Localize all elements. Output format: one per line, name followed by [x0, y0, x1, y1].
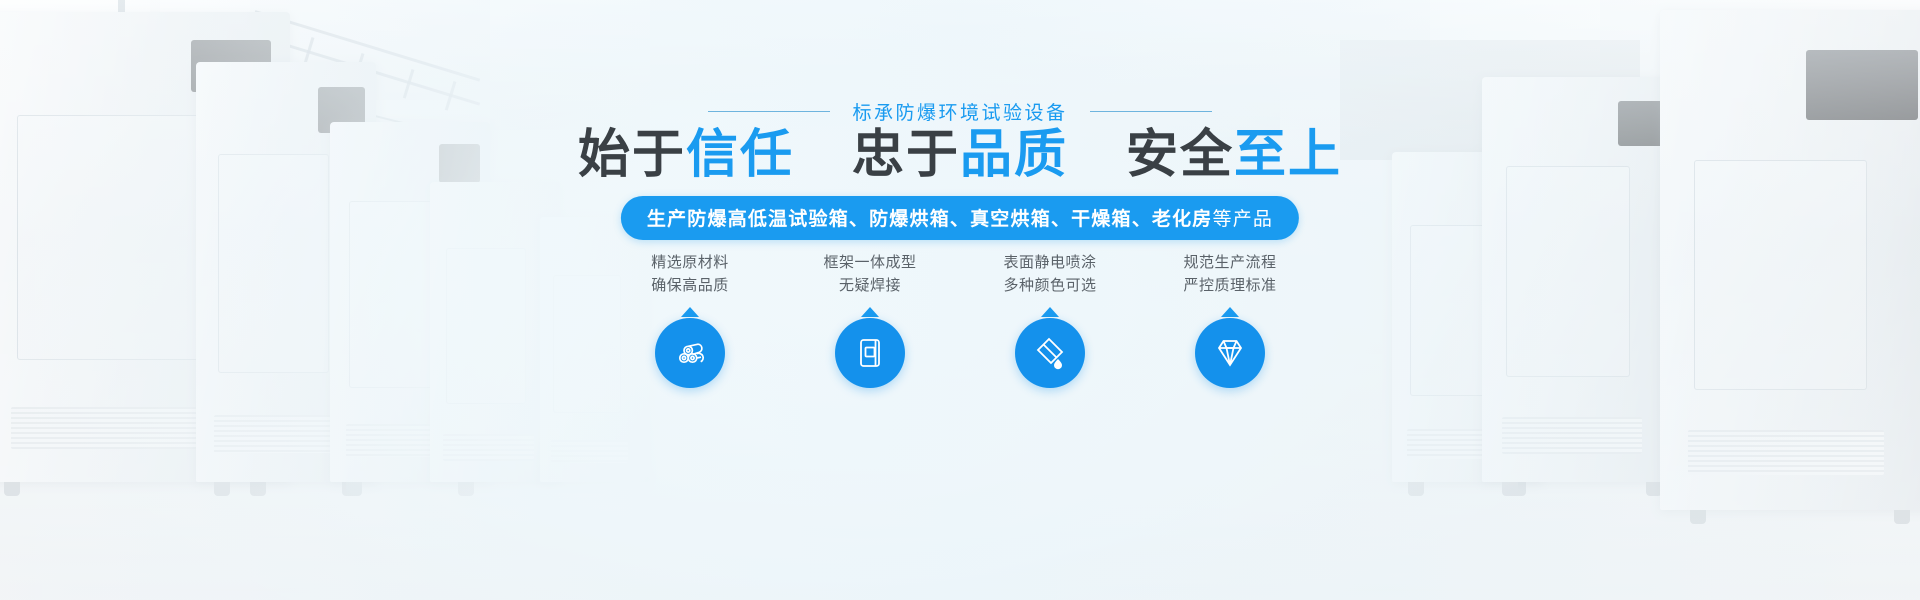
feature-4-line2: 严控质理标准 — [1183, 275, 1276, 298]
subtitle-pill: 生产防爆高低温试验箱、防爆烘箱、真空烘箱、干燥箱、老化房等产品 — [621, 196, 1299, 240]
feature-3-line1: 表面静电喷涂 — [1003, 252, 1096, 275]
headline-phrase-3: 安全至上 — [1126, 125, 1342, 186]
pointer-triangle — [1041, 307, 1059, 317]
headline-3-dark: 安全 — [1126, 126, 1234, 184]
frame-icon — [853, 336, 887, 370]
feature-item-coating[interactable]: 表面静电喷涂 多种颜色可选 — [984, 252, 1116, 388]
feature-4-circle[interactable] — [1195, 318, 1265, 388]
hero-banner: RGDJ-180T RGDJ-180T RGD-180 — [0, 0, 1920, 600]
pointer-triangle — [861, 307, 879, 317]
headline-phrase-2: 忠于品质 — [852, 125, 1068, 186]
headline-1-dark: 始于 — [578, 126, 686, 184]
feature-item-process[interactable]: 规范生产流程 严控质理标准 — [1164, 252, 1296, 388]
feature-1-line2: 确保高品质 — [651, 275, 729, 298]
headline-2-blue: 品质 — [960, 126, 1068, 184]
spray-paint-icon — [1032, 335, 1068, 371]
headline-2-dark: 忠于 — [852, 126, 960, 184]
tagline-row: 标承防爆环境试验设备 — [0, 98, 1920, 125]
subtitle-tail: 等产品 — [1213, 209, 1274, 230]
feature-2-line1: 框架一体成型 — [823, 252, 916, 275]
feature-2-line2: 无疑焊接 — [839, 275, 901, 298]
headline-phrase-1: 始于信任 — [578, 125, 794, 186]
headline-3-blue: 至上 — [1234, 126, 1342, 184]
rolls-icon — [671, 334, 709, 372]
pointer-triangle — [681, 307, 699, 317]
feature-3-line2: 多种颜色可选 — [1003, 275, 1096, 298]
banner-content: 标承防爆环境试验设备 始于信任 忠于品质 安全至上 生产防爆高低温试验箱、防爆烘… — [0, 0, 1920, 600]
feature-item-materials[interactable]: 精选原材料 确保高品质 — [624, 252, 756, 388]
tagline-rule-right — [1090, 111, 1212, 112]
feature-1-circle[interactable] — [655, 318, 725, 388]
headline: 始于信任 忠于品质 安全至上 — [0, 125, 1920, 186]
feature-item-frame[interactable]: 框架一体成型 无疑焊接 — [804, 252, 936, 388]
feature-list: 精选原材料 确保高品质 — [624, 252, 1296, 388]
feature-4-line1: 规范生产流程 — [1183, 252, 1276, 275]
tagline-text: 标承防爆环境试验设备 — [852, 98, 1067, 125]
headline-1-blue: 信任 — [686, 126, 794, 184]
diamond-icon — [1212, 335, 1248, 371]
pointer-triangle — [1221, 307, 1239, 317]
feature-1-line1: 精选原材料 — [651, 252, 729, 275]
subtitle-main: 生产防爆高低温试验箱、防爆烘箱、真空烘箱、干燥箱、老化房 — [647, 209, 1213, 230]
tagline-rule-left — [708, 111, 830, 112]
feature-2-circle[interactable] — [835, 318, 905, 388]
feature-3-circle[interactable] — [1015, 318, 1085, 388]
